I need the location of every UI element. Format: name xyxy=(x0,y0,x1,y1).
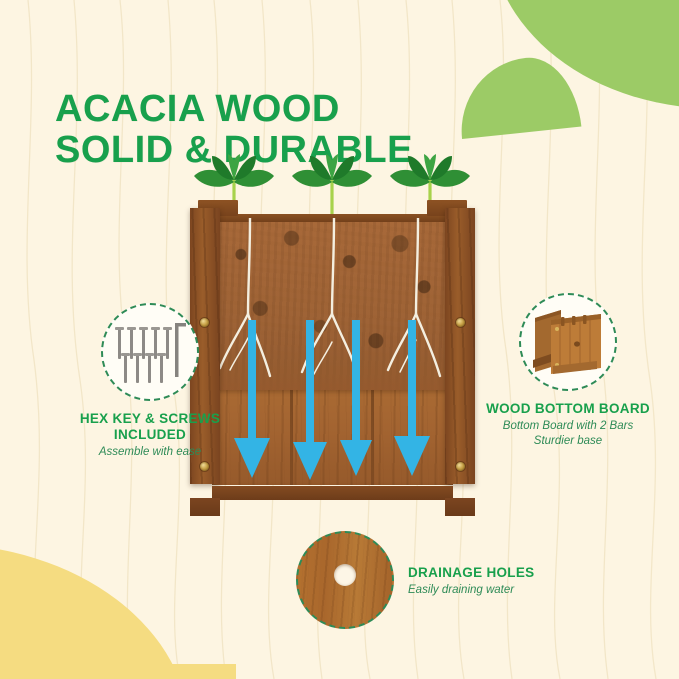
feature-hex-key-text: HEX KEY & SCREWS INCLUDED Assemble with … xyxy=(60,411,240,460)
drain-hole-opening xyxy=(334,564,356,586)
planter-foot-left xyxy=(190,498,220,516)
brass-screw xyxy=(456,462,465,471)
brass-screw xyxy=(456,318,465,327)
decorative-yellow-blob xyxy=(0,544,190,679)
feature-subtitle: Bottom Board with 2 Bars Sturdier base xyxy=(478,419,658,448)
feature-title: WOOD BOTTOM BOARD xyxy=(478,401,658,417)
feature-drainage-holes: DRAINAGE HOLES Easily draining water xyxy=(296,531,534,629)
feature-bottom-board: WOOD BOTTOM BOARD Bottom Board with 2 Ba… xyxy=(478,293,658,448)
feature-subtitle: Easily draining water xyxy=(408,583,534,598)
drainage-hole-icon xyxy=(296,531,394,629)
feature-hex-key: HEX KEY & SCREWS INCLUDED Assemble with … xyxy=(60,303,240,460)
feature-subtitle: Assemble with ease xyxy=(60,445,240,460)
planter-corner-post-right xyxy=(445,208,475,484)
wood-bottom-board-icon xyxy=(519,293,617,391)
feature-title: HEX KEY & SCREWS INCLUDED xyxy=(60,411,240,443)
seedling-2 xyxy=(282,150,382,216)
infographic-canvas: ACACIA WOOD SOLID & DURABLE xyxy=(0,0,679,679)
feature-bottom-board-text: WOOD BOTTOM BOARD Bottom Board with 2 Ba… xyxy=(478,401,658,448)
feature-title: DRAINAGE HOLES xyxy=(408,565,534,581)
headline-line-1: ACACIA WOOD xyxy=(55,88,340,130)
planter-foot-right xyxy=(445,498,475,516)
water-drainage-arrows xyxy=(212,320,453,490)
decorative-green-blob xyxy=(490,0,679,132)
brass-screw xyxy=(200,462,209,471)
hex-key-and-screws-icon xyxy=(101,303,199,401)
planter-base-rail xyxy=(212,486,453,500)
feature-drainage-text: DRAINAGE HOLES Easily draining water xyxy=(408,563,534,598)
